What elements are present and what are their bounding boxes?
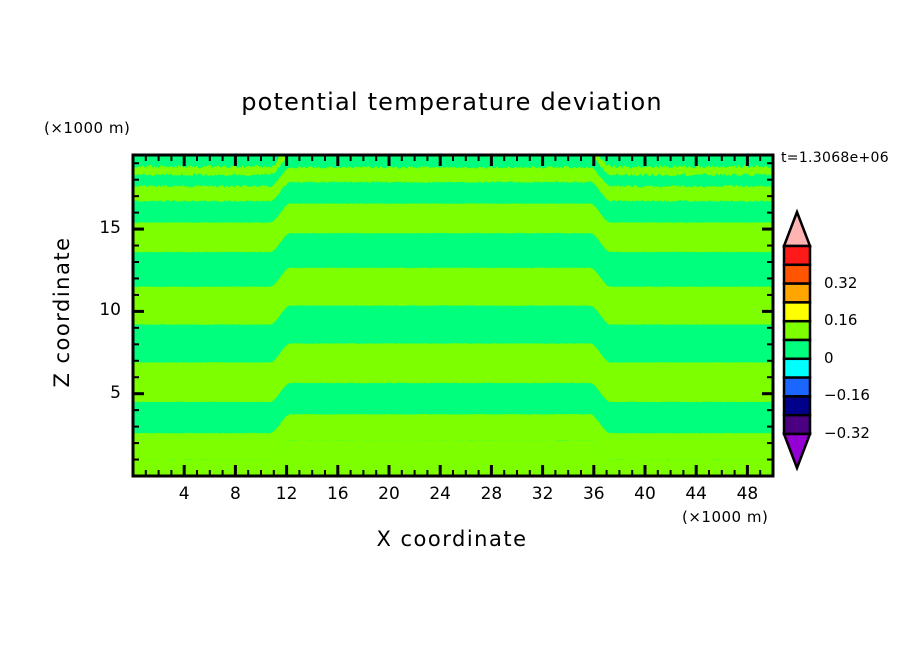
contour-plot bbox=[0, 0, 904, 654]
y-tick-label: 5 bbox=[61, 383, 121, 403]
colorbar-tick-label: 0 bbox=[824, 349, 834, 367]
colorbar-tick-label: 0.32 bbox=[824, 274, 857, 292]
y-tick-label: 15 bbox=[61, 218, 121, 238]
colorbar-tick-label: 0.16 bbox=[824, 311, 857, 329]
colorbar-tick-label: −0.16 bbox=[824, 386, 870, 404]
colorbar-tick-label: −0.32 bbox=[824, 424, 870, 442]
x-tick-label: 48 bbox=[717, 484, 777, 504]
y-tick-label: 10 bbox=[61, 300, 121, 320]
